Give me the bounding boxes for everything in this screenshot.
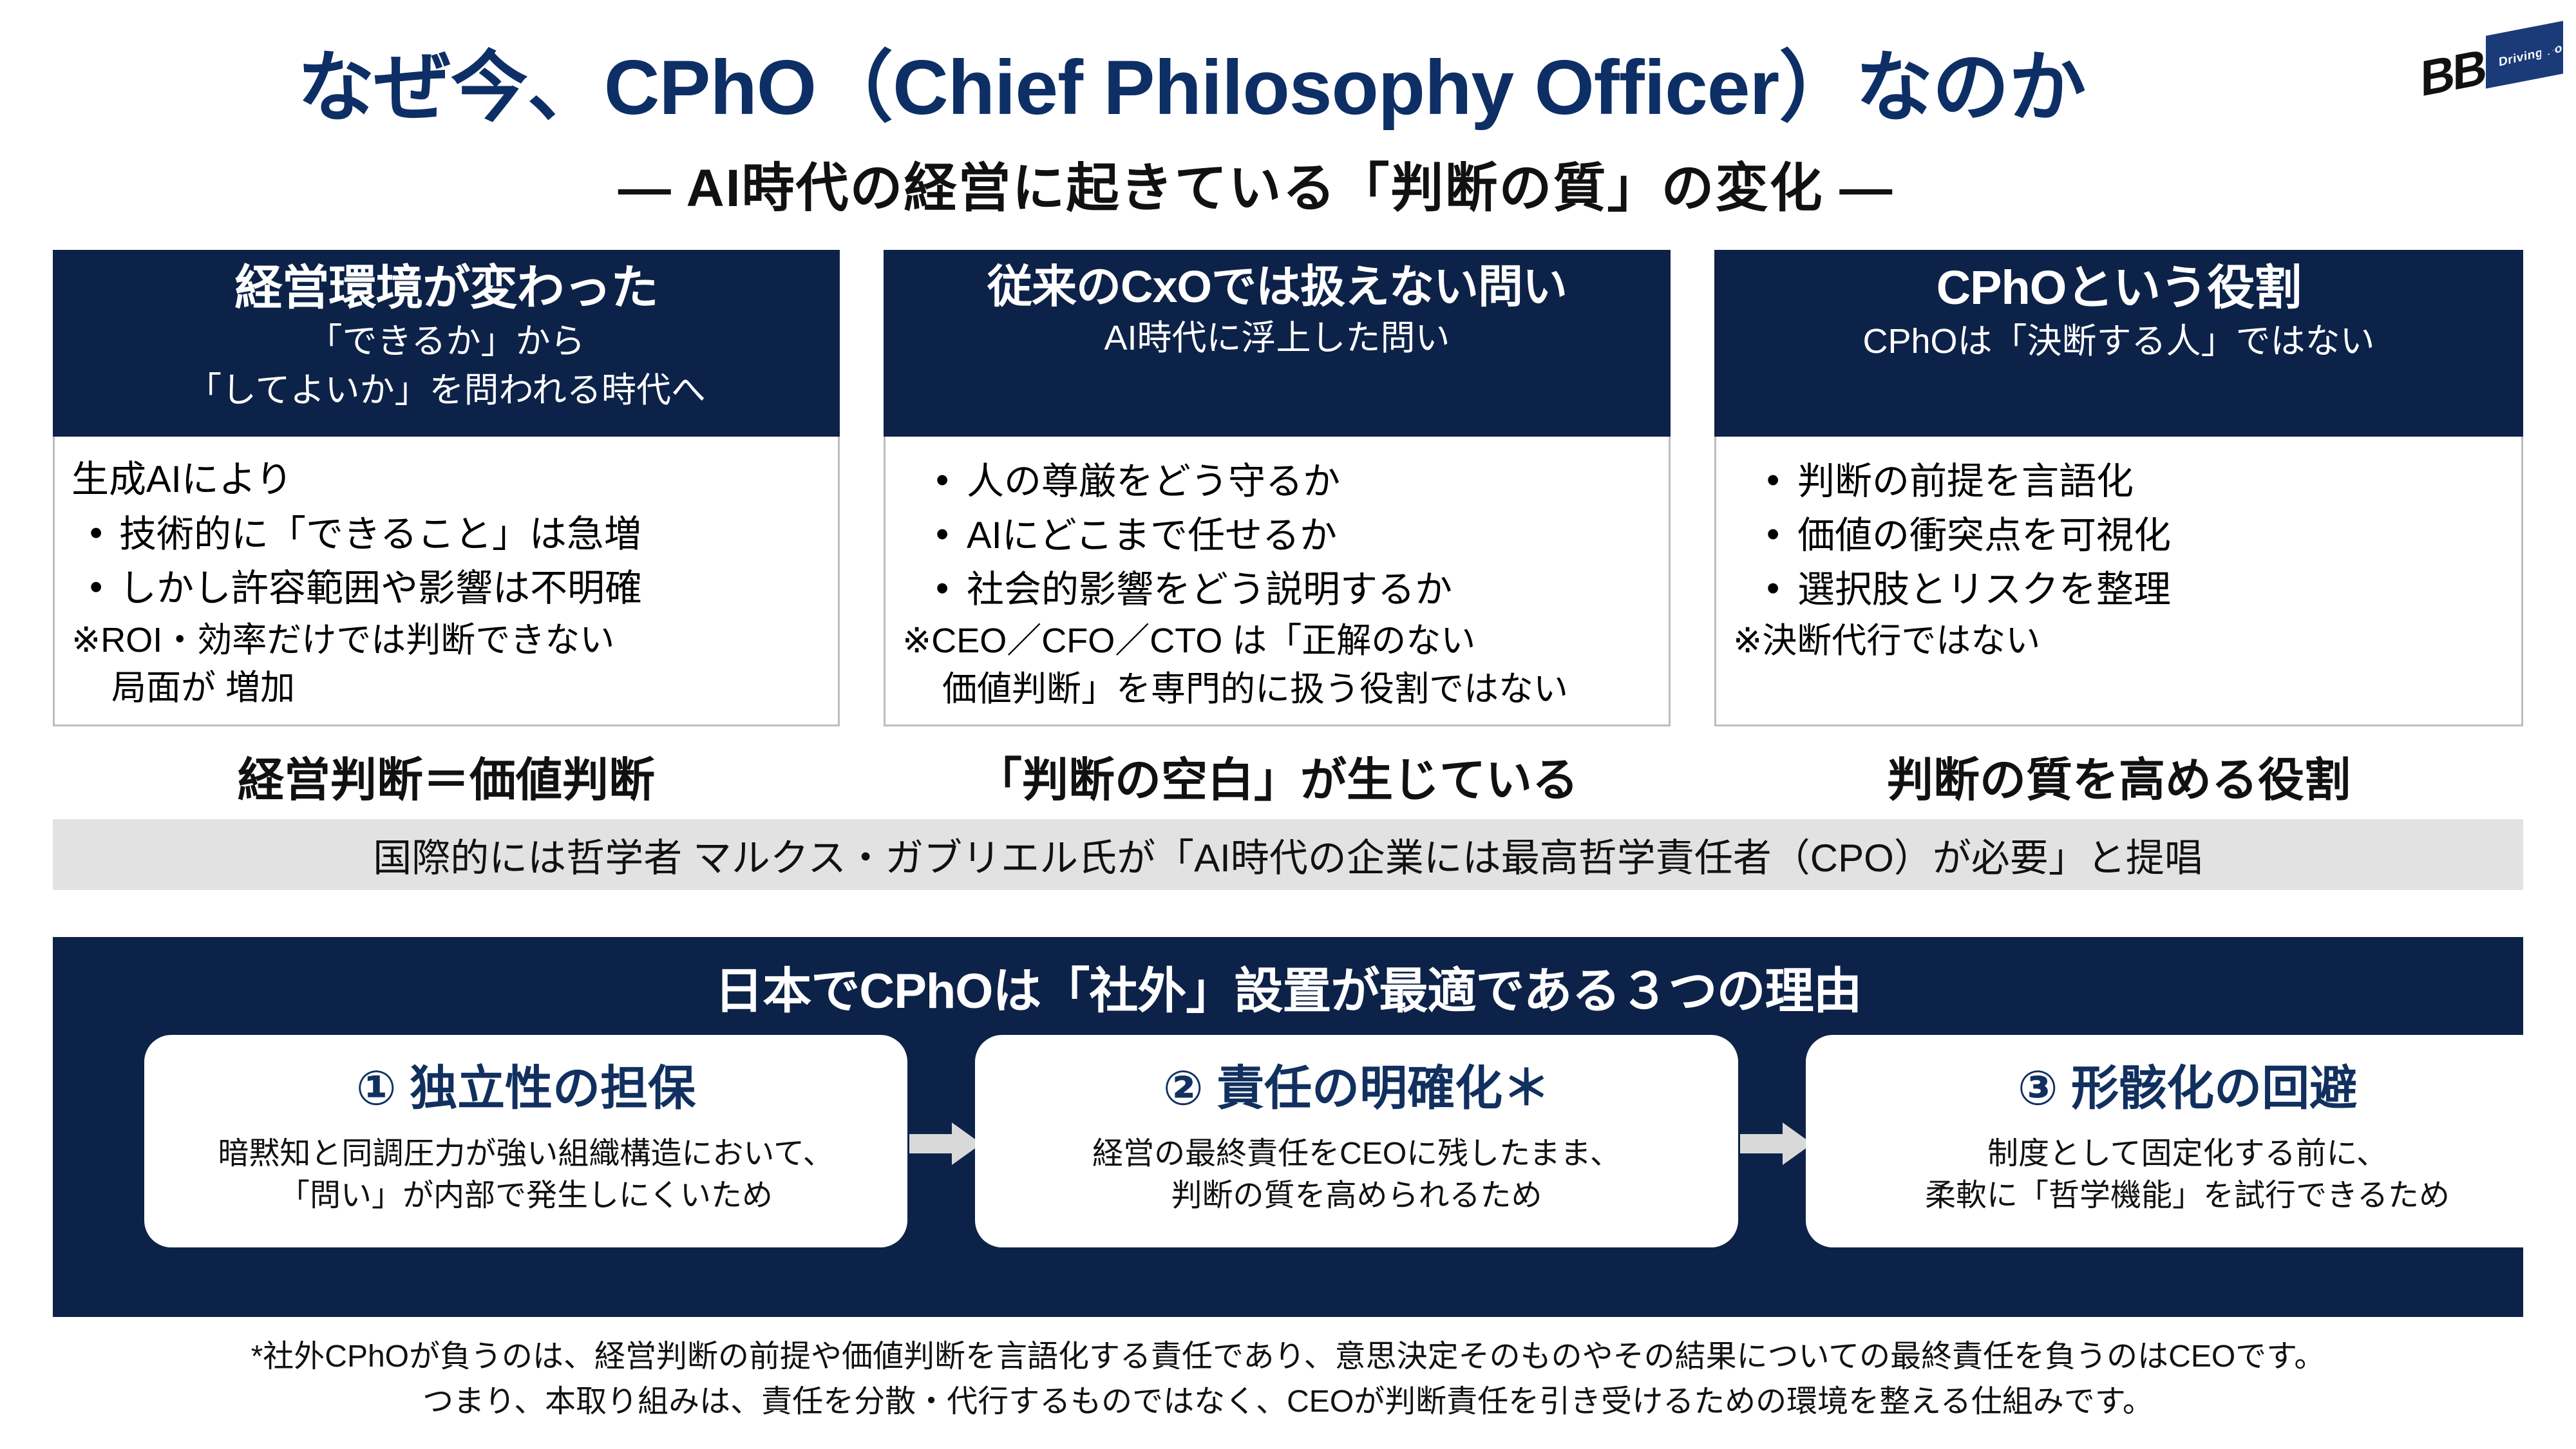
card-2-note-line2: 価値判断」を専門的に扱う役割ではない [902,665,1652,714]
slide-header: なぜ今、CPhO（Chief Philosophy Officer）なのか ― … [0,0,2576,232]
list-item: 技術的に「できること」は急増 [71,507,821,562]
card-2-conclusion-text: 「判断の空白」が生じている [884,742,1671,810]
arrow-right-icon [2541,28,2563,61]
card-1-body: 生成AIにより 技術的に「できること」は急増 しかし許容範囲や影響は不明確 ※R… [53,437,840,726]
arrow-right-icon [1740,1122,1812,1165]
reason-3-desc-line1: 制度として固定化する前に、 [1821,1133,2553,1175]
bbdf-logo: BB DF Driving Force [2415,13,2563,103]
list-item: AIにどこまで任せるか [902,509,1652,563]
reason-2-desc-line2: 判断の質を高められるため [990,1175,1723,1217]
page-subtitle: ― AI時代の経営に起きている「判断の質」の変化 ― [0,145,2512,222]
gabriel-citation-text: 国際的には哲学者 マルクス・ガブリエル氏が「AI時代の企業には最高哲学責任者（C… [373,827,2203,883]
card-3-body: 判断の前提を言語化 価値の衝突点を可視化 選択肢とリスクを整理 ※決断代行ではな… [1714,437,2523,726]
reason-2-desc-line1: 経営の最終責任をCEOに残したまま、 [990,1133,1723,1175]
list-item: 社会的影響をどう説明するか [902,563,1652,617]
reason-3-desc-line2: 柔軟に「哲学機能」を試行できるため [1821,1175,2553,1217]
card-3-note-line1: ※決断代行ではない [1733,617,2505,665]
reason-1-title: ① 独立性の担保 [160,1061,892,1115]
card-2-note-line1: ※CEO／CFO／CTO は「正解のない [902,617,1652,665]
footnote-line2: つまり、本取り組みは、責任を分散・代行するものではなく、CEOが判断責任を引き受… [0,1379,2576,1425]
card-3-header: CPhOという役割 CPhOは「決断する人」ではない [1714,250,2523,437]
card-2-header: 従来のCxOでは扱えない問い AI時代に浮上した問い [884,250,1671,437]
footnote: *社外CPhOが負うのは、経営判断の前提や価値判断を言語化する責任であり、意思決… [0,1334,2576,1424]
card-1-note-line1: ※ROI・効率だけでは判断できない [71,616,821,665]
reason-1-desc-line1: 暗黙知と同調圧力が強い組織構造において、 [160,1133,892,1175]
logo-bb-text: BB [2421,37,2485,108]
card-2-conclusion: 「判断の空白」が生じている [884,742,1671,800]
card-1-subtitle-line2: 「してよいか」を問われる時代へ [59,368,833,413]
card-1-conclusion-text: 経営判断＝価値判断 [53,742,840,810]
gabriel-citation-banner: 国際的には哲学者 マルクス・ガブリエル氏が「AI時代の企業には最高哲学責任者（C… [53,819,2523,890]
reason-card-accountability: ② 責任の明確化＊ 経営の最終責任をCEOに残したまま、 判断の質を高められるた… [975,1035,1738,1247]
card-1-title: 経営環境が変わった [59,261,833,315]
three-reasons-title: 日本でCPhOは「社外」設置が最適である３つの理由 [53,951,2523,1022]
three-reasons-panel: 日本でCPhOは「社外」設置が最適である３つの理由 ① 独立性の担保 暗黙知と同… [53,937,2523,1317]
slide-root: なぜ今、CPhO（Chief Philosophy Officer）なのか ― … [0,0,2576,1449]
card-1-conclusion: 経営判断＝価値判断 [53,742,840,800]
card-1-header: 経営環境が変わった 「できるか」から 「してよいか」を問われる時代へ [53,250,840,437]
card-3-conclusion-text: 判断の質を高める役割 [1714,742,2523,810]
card-cpho-role: CPhOという役割 CPhOは「決断する人」ではない 判断の前提を言語化 価値の… [1714,250,2523,726]
list-item: しかし許容範囲や影響は不明確 [71,562,821,616]
card-2-body: 人の尊厳をどう守るか AIにどこまで任せるか 社会的影響をどう説明するか ※CE… [884,437,1671,726]
page-title: なぜ今、CPhO（Chief Philosophy Officer）なのか [0,24,2383,137]
card-3-bullet-list: 判断の前提を言語化 価値の衝突点を可視化 選択肢とリスクを整理 [1733,455,2505,617]
card-3-title: CPhOという役割 [1721,261,2517,315]
reason-1-desc-line2: 「問い」が内部で発生しにくいため [160,1175,892,1217]
list-item: 価値の衝突点を可視化 [1733,509,2505,563]
arrow-right-icon [909,1122,981,1165]
reason-card-avoid-formalization: ③ 形骸化の回避 制度として固定化する前に、 柔軟に「哲学機能」を試行できるため [1806,1035,2569,1247]
list-item: 選択肢とリスクを整理 [1733,563,2505,617]
card-2-bullet-list: 人の尊厳をどう守るか AIにどこまで任せるか 社会的影響をどう説明するか [902,455,1652,617]
card-2-subtitle-line1: AI時代に浮上した問い [890,316,1664,361]
list-item: 人の尊厳をどう守るか [902,455,1652,509]
card-3-conclusion: 判断の質を高める役割 [1714,742,2523,800]
footnote-line1: *社外CPhOが負うのは、経営判断の前提や価値判断を言語化する責任であり、意思決… [0,1334,2576,1379]
card-2-title: 従来のCxOでは扱えない問い [890,261,1664,312]
card-1-lead: 生成AIにより [71,453,821,506]
card-1-subtitle-line1: 「できるか」から [59,319,833,364]
list-item: 判断の前提を言語化 [1733,455,2505,509]
card-unaddressable-questions: 従来のCxOでは扱えない問い AI時代に浮上した問い 人の尊厳をどう守るか AI… [884,250,1671,726]
card-3-subtitle-line1: CPhOは「決断する人」ではない [1721,319,2517,364]
reason-card-independence: ① 独立性の担保 暗黙知と同調圧力が強い組織構造において、 「問い」が内部で発生… [144,1035,907,1247]
reason-2-title: ② 責任の明確化＊ [990,1061,1723,1115]
card-1-bullet-list: 技術的に「できること」は急増 しかし許容範囲や影響は不明確 [71,507,821,616]
three-cards-row: 経営環境が変わった 「できるか」から 「してよいか」を問われる時代へ 生成AIに… [0,250,2576,739]
card-management-environment: 経営環境が変わった 「できるか」から 「してよいか」を問われる時代へ 生成AIに… [53,250,840,726]
card-1-note-line2: 局面が 増加 [71,664,821,712]
reason-3-title: ③ 形骸化の回避 [1821,1061,2553,1115]
